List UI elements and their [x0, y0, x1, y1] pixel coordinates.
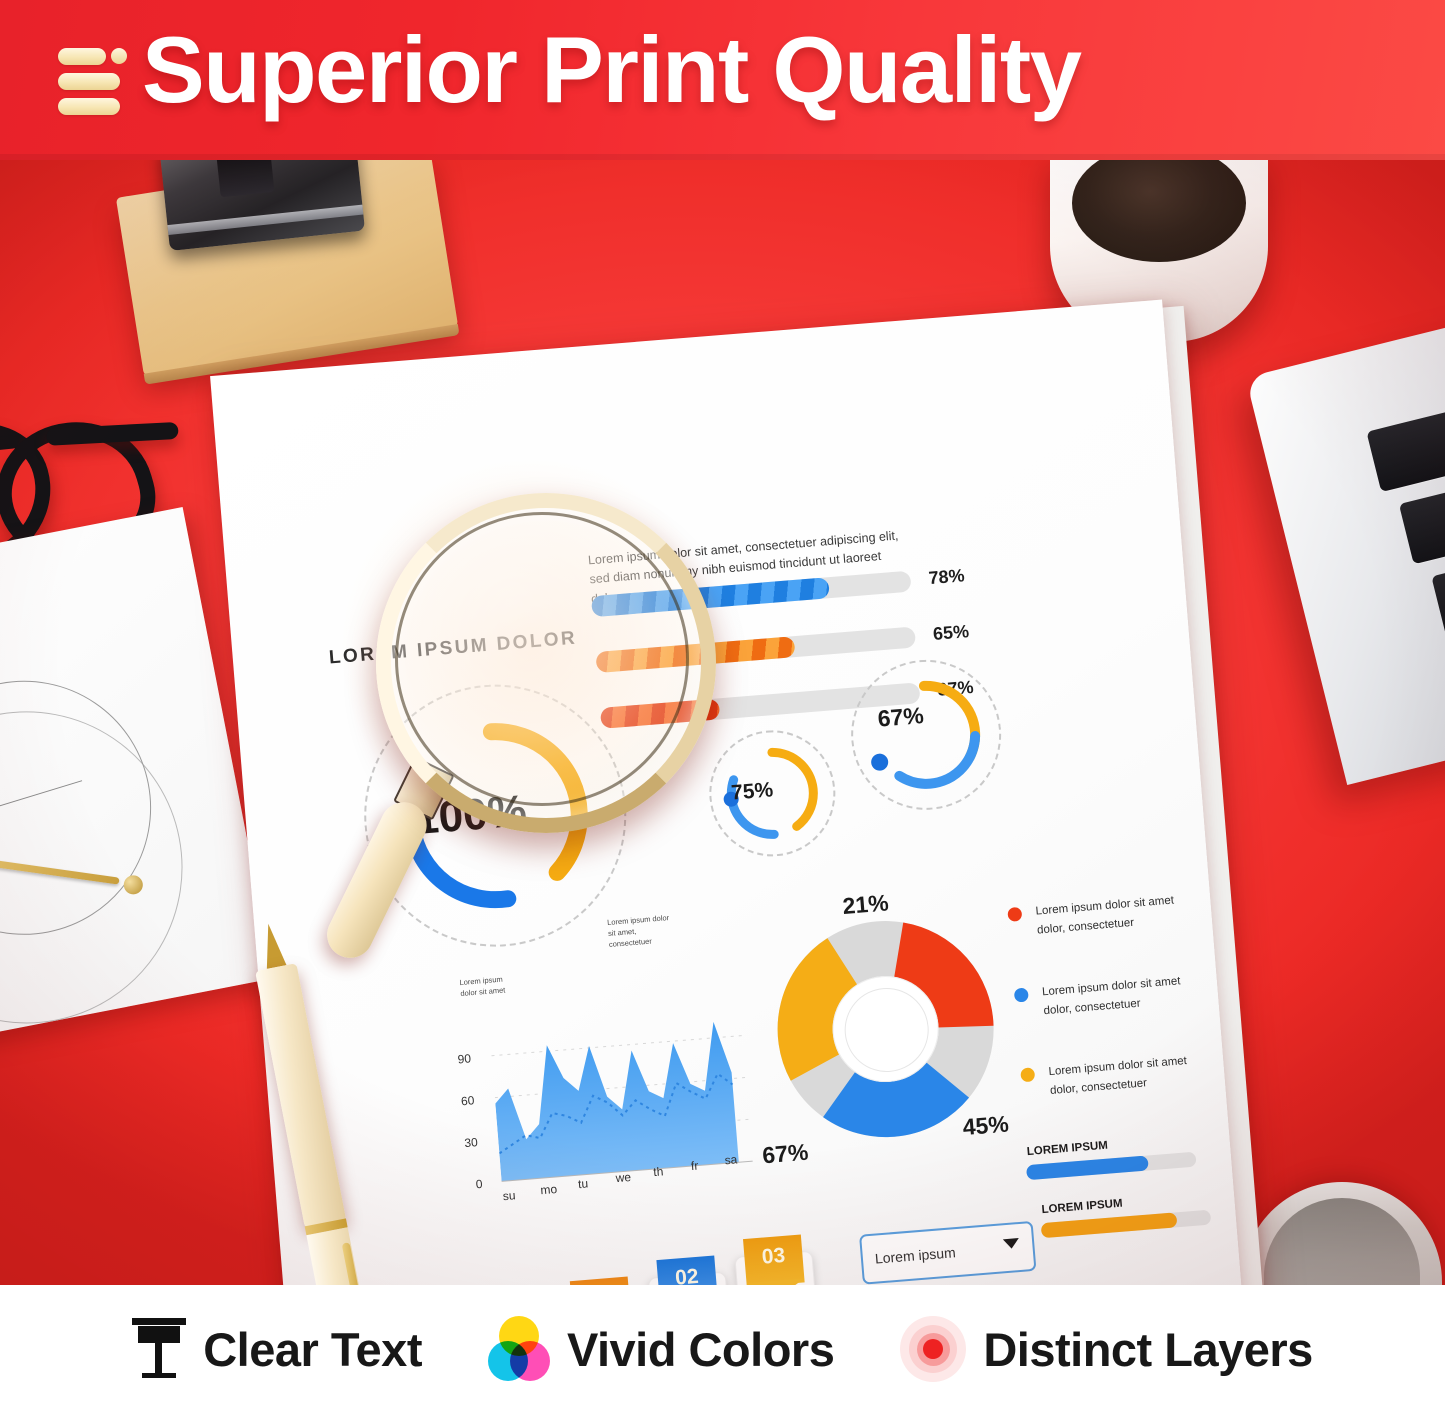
- x-axis-tick: we: [615, 1170, 631, 1185]
- mini-progress-bar: LOREM IPSUM: [1026, 1152, 1197, 1181]
- feature-bar: Clear Text Vivid Colors Distinct Layers: [0, 1285, 1445, 1413]
- legend-color-dot: [1007, 907, 1022, 922]
- pot-soil: [1072, 160, 1246, 262]
- donut-legend: Lorem ipsum dolor sit amet dolor, consec…: [1007, 889, 1216, 1145]
- mini-bar-label: LOREM IPSUM: [1041, 1198, 1123, 1216]
- legend-item: Lorem ipsum dolor sit amet dolor, consec…: [1013, 969, 1205, 1023]
- bar-percent-label: 78%: [928, 565, 966, 589]
- x-axis-tick: tu: [577, 1176, 588, 1191]
- x-axis-tick: fr: [690, 1159, 698, 1174]
- card-number: 03: [744, 1242, 804, 1271]
- document-caption: Lorem ipsum dolor sit amet, consectetuer: [607, 912, 679, 950]
- legend-item: Lorem ipsum dolor sit amet dolor, consec…: [1020, 1049, 1212, 1103]
- numbered-card-02[interactable]: 02 Lorem ipsum dolor sit amet, consectet…: [648, 1272, 735, 1285]
- x-axis-tick: su: [502, 1188, 516, 1203]
- document-caption: Lorem ipsum dolor sit amet: [459, 974, 517, 1000]
- feature-vivid-colors: Vivid Colors: [488, 1316, 834, 1382]
- magnifying-glass: [376, 493, 686, 803]
- donut-chart: 21% 45% 67%: [768, 912, 1003, 1147]
- gauge-75: 75%: [704, 726, 840, 862]
- donut-slice-label: 45%: [962, 1111, 1010, 1142]
- cup-interior: [1264, 1198, 1420, 1285]
- header-banner: Superior Print Quality: [0, 0, 1445, 160]
- numbered-cards: 01 Lorem ipsum dolor sit amet, consectet…: [559, 1249, 850, 1285]
- gauge-label: 67%: [877, 702, 925, 733]
- header-title: Superior Print Quality: [142, 21, 1081, 120]
- document-sheet: LOREM IPSUM DOLOR Lorem ipsum dolor sit …: [210, 300, 1250, 1285]
- feature-clear-text: Clear Text: [132, 1318, 422, 1380]
- ribbon-flag: 03: [743, 1235, 806, 1285]
- feature-label: Distinct Layers: [983, 1322, 1312, 1377]
- legend-label: Lorem ipsum dolor sit amet dolor, consec…: [1042, 975, 1181, 1017]
- legend-label: Lorem ipsum dolor sit amet dolor, consec…: [1035, 895, 1174, 937]
- device-slot: [216, 160, 275, 197]
- gray-cup: [1242, 1182, 1442, 1285]
- bar-percent-label: 65%: [932, 621, 970, 645]
- laptop: [1246, 305, 1445, 785]
- gauge-67: 67%: [845, 654, 1007, 816]
- donut-slice-label: 67%: [761, 1139, 809, 1170]
- legend-color-dot: [1020, 1067, 1035, 1082]
- area-chart: 90 60 30 0: [460, 1011, 765, 1234]
- card-number: 02: [657, 1264, 717, 1286]
- device-metal-edge: [167, 205, 363, 235]
- ribbon-flag: 01: [570, 1277, 633, 1285]
- dropdown-lorem-blue[interactable]: Lorem ipsum: [859, 1221, 1036, 1285]
- text-cursor-icon: [132, 1318, 186, 1380]
- stacked-bars-icon: [58, 48, 120, 114]
- product-marketing-image: Superior Print Quality: [0, 0, 1445, 1413]
- concentric-rings-icon: [900, 1316, 966, 1382]
- chevron-down-icon[interactable]: [1003, 1238, 1020, 1249]
- laptop-key: [1431, 554, 1445, 636]
- laptop-key: [1399, 482, 1445, 564]
- legend-label: Lorem ipsum dolor sit amet dolor, consec…: [1048, 1055, 1187, 1097]
- dark-device: [159, 160, 365, 251]
- desk-scene-photo: LOREM IPSUM DOLOR Lorem ipsum dolor sit …: [0, 160, 1445, 1285]
- magnifier-lens-ring: [376, 493, 716, 833]
- legend-item: Lorem ipsum dolor sit amet dolor, consec…: [1007, 889, 1199, 943]
- feature-distinct-layers: Distinct Layers: [900, 1316, 1312, 1382]
- legend-color-dot: [1014, 987, 1029, 1002]
- laptop-key: [1366, 410, 1445, 492]
- gauge-label: 75%: [730, 778, 774, 805]
- x-axis-tick: th: [653, 1164, 664, 1179]
- numbered-card-03[interactable]: 03 Lorem ipsum dolor sit amet, consectet…: [734, 1251, 821, 1285]
- x-axis-tick: sa: [724, 1152, 738, 1167]
- ribbon-flag: 02: [656, 1256, 719, 1285]
- printed-document: LOREM IPSUM DOLOR Lorem ipsum dolor sit …: [210, 298, 1278, 1285]
- donut-slice-label: 21%: [842, 889, 890, 920]
- mini-progress-bar: LOREM IPSUM: [1041, 1210, 1212, 1239]
- form-controls: Lorem ipsum Lorem ipsum LOREM IPSUM: [855, 1151, 1204, 1179]
- dropdown-label: Lorem ipsum: [874, 1244, 956, 1266]
- feature-label: Vivid Colors: [567, 1322, 834, 1377]
- cmyk-circles-icon: [488, 1316, 550, 1382]
- feature-label: Clear Text: [203, 1322, 422, 1377]
- wooden-board: [116, 160, 458, 376]
- x-axis-tick: mo: [540, 1182, 558, 1197]
